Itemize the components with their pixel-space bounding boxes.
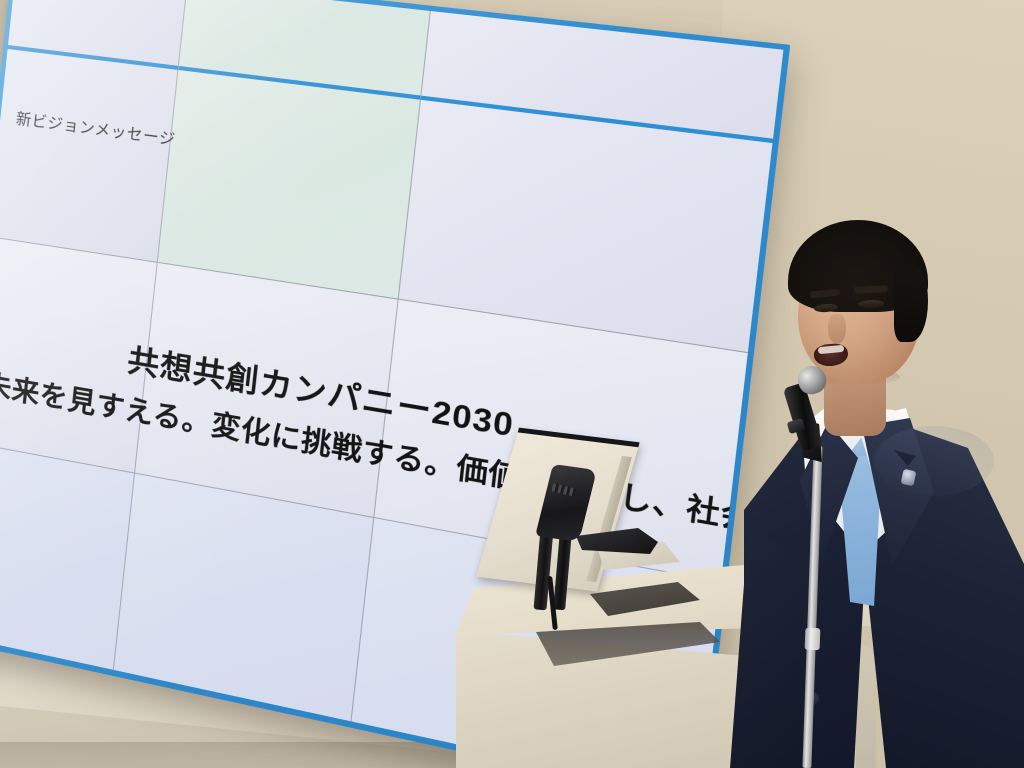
microphone-assembly[interactable] bbox=[786, 366, 842, 768]
confidence-monitor bbox=[498, 432, 678, 622]
panel-r4c2 bbox=[114, 473, 374, 721]
panel-r4c1 bbox=[0, 442, 135, 670]
press-conference-photo: 新ビジョンメッセージ 共想共創カンパニー2030 未来を見すえる。変化に挑戦する… bbox=[0, 0, 1024, 768]
panel-r2c1 bbox=[0, 49, 179, 263]
panel-r2c2 bbox=[158, 70, 421, 300]
hair-sideburn bbox=[894, 264, 928, 342]
nose bbox=[828, 314, 846, 344]
shoulder-highlight bbox=[874, 426, 994, 496]
panel-r3c2 bbox=[135, 262, 398, 517]
panel-r3c1 bbox=[0, 236, 158, 473]
microphone-stand bbox=[802, 446, 822, 768]
microphone-stand-collar bbox=[805, 628, 821, 651]
